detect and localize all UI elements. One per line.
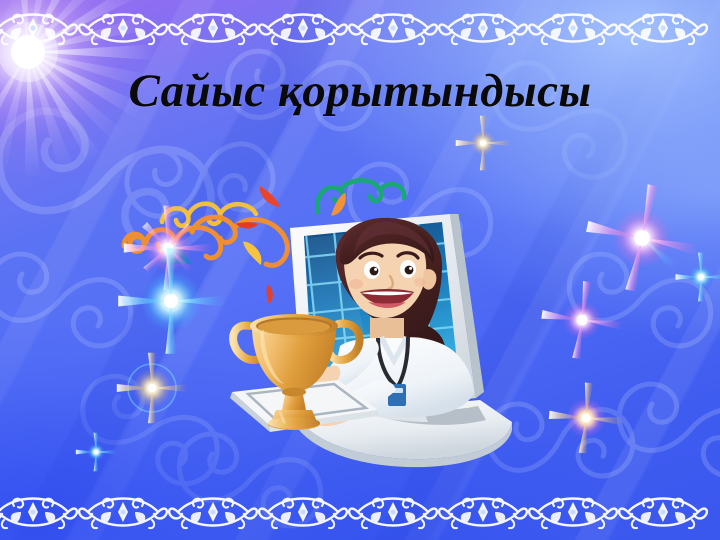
page-title: Сайыс қорытындысы: [0, 66, 720, 117]
slide-canvas: Сайыс қорытындысы: [0, 0, 720, 540]
